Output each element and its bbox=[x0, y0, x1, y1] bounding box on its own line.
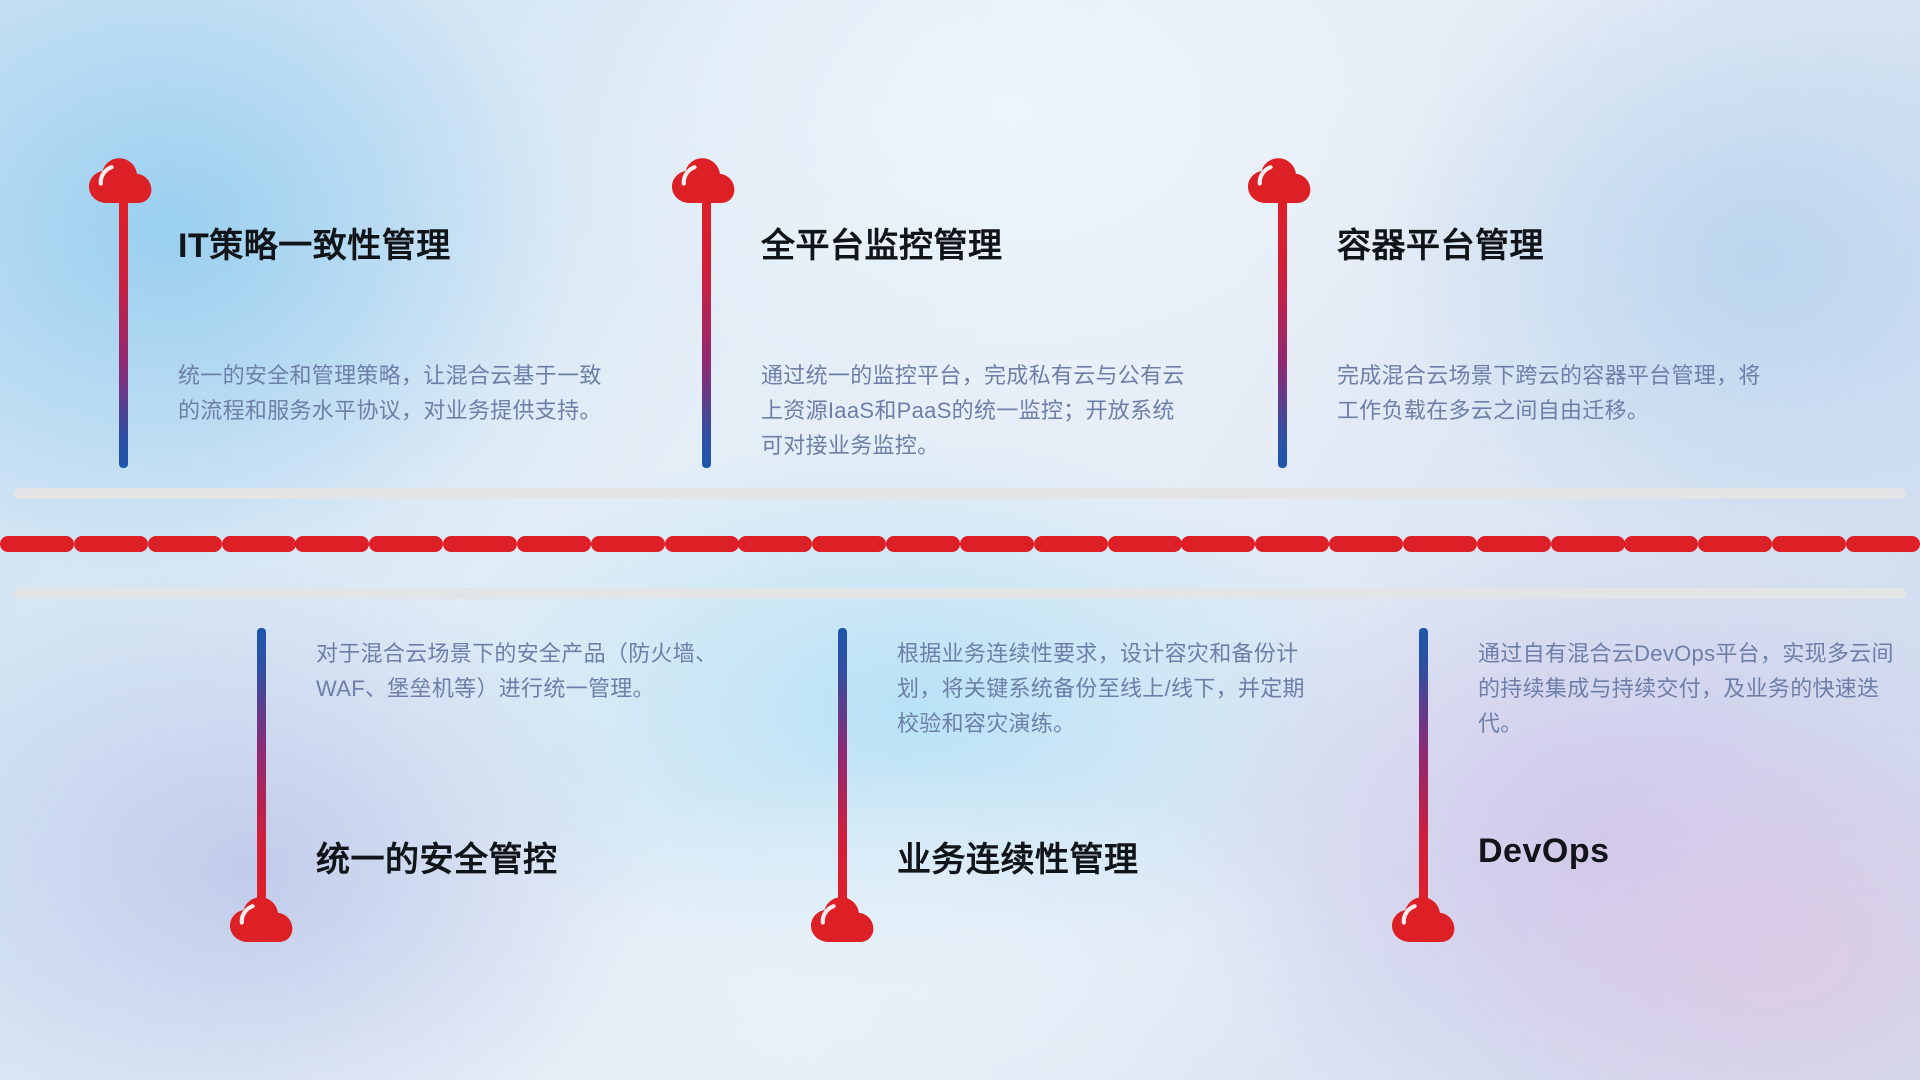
road-dash bbox=[1772, 536, 1846, 552]
item-title: IT策略一致性管理 bbox=[178, 218, 451, 267]
road-dash bbox=[517, 536, 591, 552]
item-title: 容器平台管理 bbox=[1337, 218, 1544, 267]
road-dash bbox=[1108, 536, 1182, 552]
road-dash bbox=[812, 536, 886, 552]
road-dash bbox=[960, 536, 1034, 552]
road-dash bbox=[0, 536, 74, 552]
road-dash bbox=[148, 536, 222, 552]
road-dash bbox=[74, 536, 148, 552]
background-glow-pink bbox=[1440, 720, 1920, 1080]
background-glow-bottom bbox=[520, 760, 1340, 1080]
cloud-pin-icon bbox=[810, 897, 874, 943]
road-divider bbox=[0, 488, 1920, 600]
road-dash bbox=[1181, 536, 1255, 552]
stem-bar bbox=[119, 196, 128, 468]
item-body: 通过统一的监控平台，完成私有云与公有云上资源IaaS和PaaS的统一监控；开放系… bbox=[761, 358, 1191, 463]
stem-bar bbox=[702, 196, 711, 468]
item-title: 全平台监控管理 bbox=[761, 218, 1003, 267]
road-dash bbox=[591, 536, 665, 552]
stem-bar bbox=[838, 628, 847, 906]
road-dash bbox=[222, 536, 296, 552]
cloud-pin-icon bbox=[1391, 897, 1455, 943]
road-dash bbox=[443, 536, 517, 552]
background-glow-bottom-right bbox=[1160, 520, 1920, 1080]
stem-bar bbox=[1419, 628, 1428, 906]
road-line-upper bbox=[14, 488, 1906, 499]
item-body: 对于混合云场景下的安全产品（防火墙、WAF、堡垒机等）进行统一管理。 bbox=[316, 636, 746, 706]
item-body: 通过自有混合云DevOps平台，实现多云间的持续集成与持续交付，及业务的快速迭代… bbox=[1478, 636, 1908, 741]
infographic-canvas: IT策略一致性管理 统一的安全和管理策略，让混合云基于一致的流程和服务水平协议，… bbox=[0, 0, 1920, 1080]
stem-bar bbox=[257, 628, 266, 906]
background-glow-top bbox=[560, 0, 1460, 420]
road-dash bbox=[665, 536, 739, 552]
stem-bar bbox=[1278, 196, 1287, 468]
road-dash bbox=[1551, 536, 1625, 552]
item-body: 完成混合云场景下跨云的容器平台管理，将工作负载在多云之间自由迁移。 bbox=[1337, 358, 1767, 428]
cloud-pin-icon bbox=[229, 897, 293, 943]
road-dash bbox=[1034, 536, 1108, 552]
item-title: 统一的安全管控 bbox=[316, 832, 558, 881]
road-dash bbox=[1698, 536, 1772, 552]
road-dash bbox=[295, 536, 369, 552]
item-body: 根据业务连续性要求，设计容灾和备份计划，将关键系统备份至线上/线下，并定期校验和… bbox=[897, 636, 1327, 741]
road-dash bbox=[1846, 536, 1920, 552]
road-dash bbox=[1477, 536, 1551, 552]
item-title: DevOps bbox=[1478, 832, 1610, 871]
road-dashed-centerline bbox=[0, 536, 1920, 552]
item-body: 统一的安全和管理策略，让混合云基于一致的流程和服务水平协议，对业务提供支持。 bbox=[178, 358, 608, 428]
road-dash bbox=[1624, 536, 1698, 552]
road-dash bbox=[886, 536, 960, 552]
road-line-lower bbox=[14, 588, 1906, 599]
road-dash bbox=[1255, 536, 1329, 552]
road-dash bbox=[369, 536, 443, 552]
road-dash bbox=[738, 536, 812, 552]
road-dash bbox=[1403, 536, 1477, 552]
road-dash bbox=[1329, 536, 1403, 552]
item-title: 业务连续性管理 bbox=[897, 832, 1139, 881]
